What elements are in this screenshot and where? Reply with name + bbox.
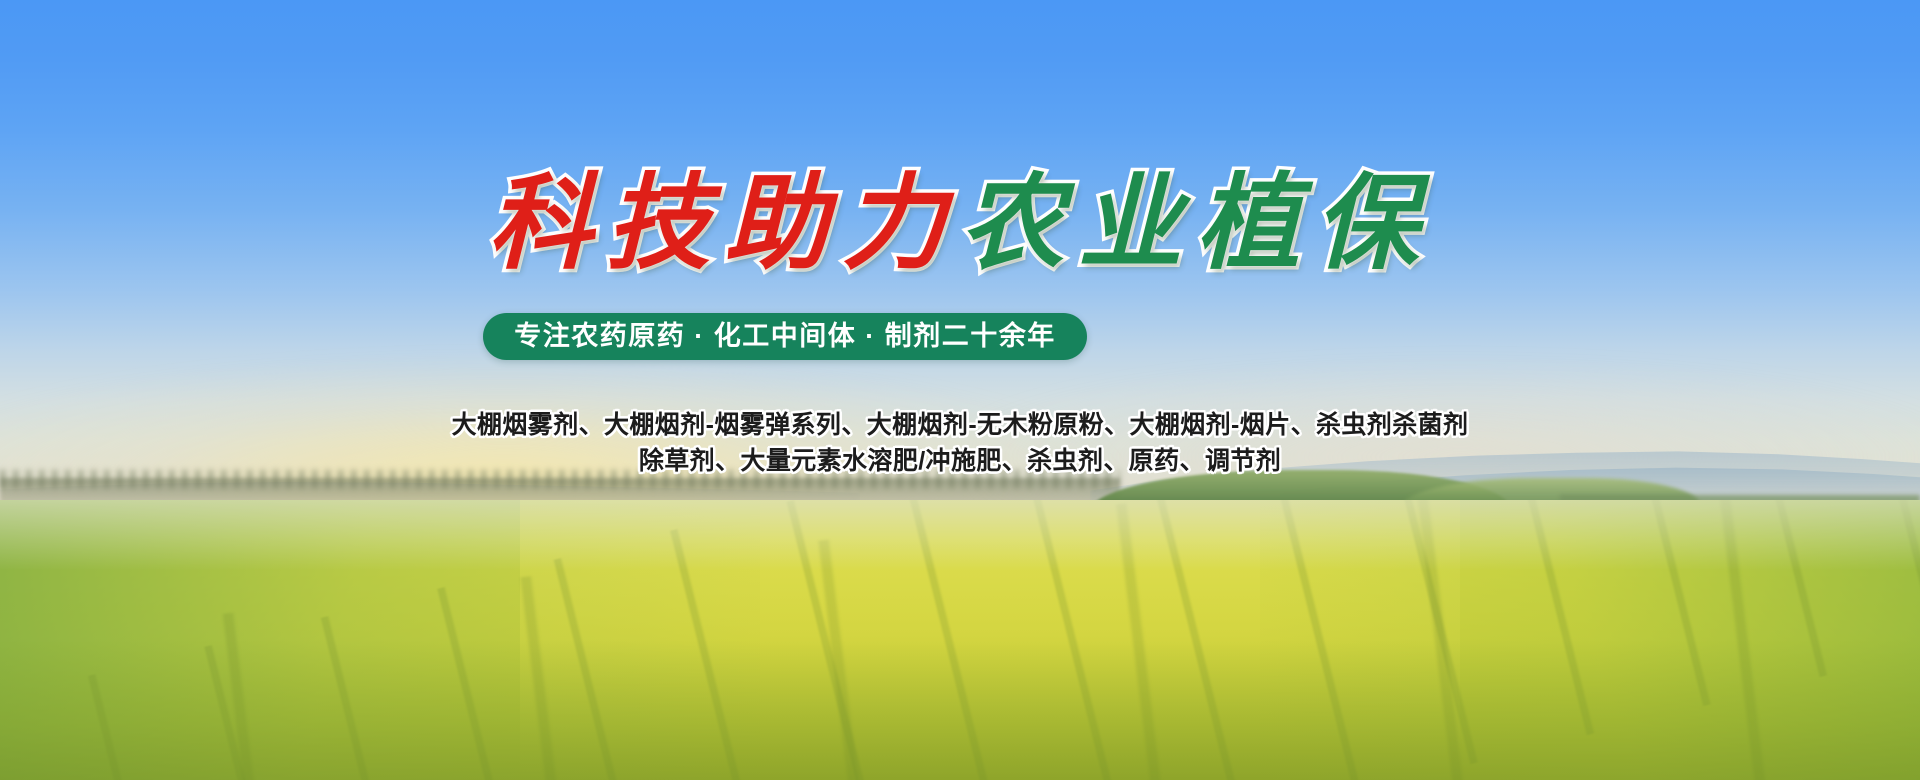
crop-field bbox=[0, 500, 1920, 780]
tagline-badge: 专注农药原药 · 化工中间体 · 制剂二十余年 bbox=[483, 313, 1087, 360]
product-description-line-1: 大棚烟雾剂、大棚烟剂-烟雾弹系列、大棚烟剂-无木粉原粉、大棚烟剂-烟片、杀虫剂杀… bbox=[0, 408, 1920, 444]
hero-banner: 科技助力农业植保 专注农药原药 · 化工中间体 · 制剂二十余年 大棚烟雾剂、大… bbox=[0, 0, 1920, 780]
tagline-badge-text: 专注农药原药 · 化工中间体 · 制剂二十余年 bbox=[514, 323, 1056, 350]
field-shadow-foreground bbox=[0, 640, 1920, 780]
product-description: 大棚烟雾剂、大棚烟剂-烟雾弹系列、大棚烟剂-无木粉原粉、大棚烟剂-烟片、杀虫剂杀… bbox=[0, 408, 1920, 479]
horizon-haze bbox=[0, 500, 1920, 570]
headline-segment-green: 农业植保 bbox=[960, 168, 1432, 278]
product-description-line-2: 除草剂、大量元素水溶肥/冲施肥、杀虫剂、原药、调节剂 bbox=[0, 444, 1920, 480]
headline-segment-red: 科技助力 bbox=[488, 168, 960, 278]
headline: 科技助力农业植保 bbox=[0, 168, 1920, 278]
